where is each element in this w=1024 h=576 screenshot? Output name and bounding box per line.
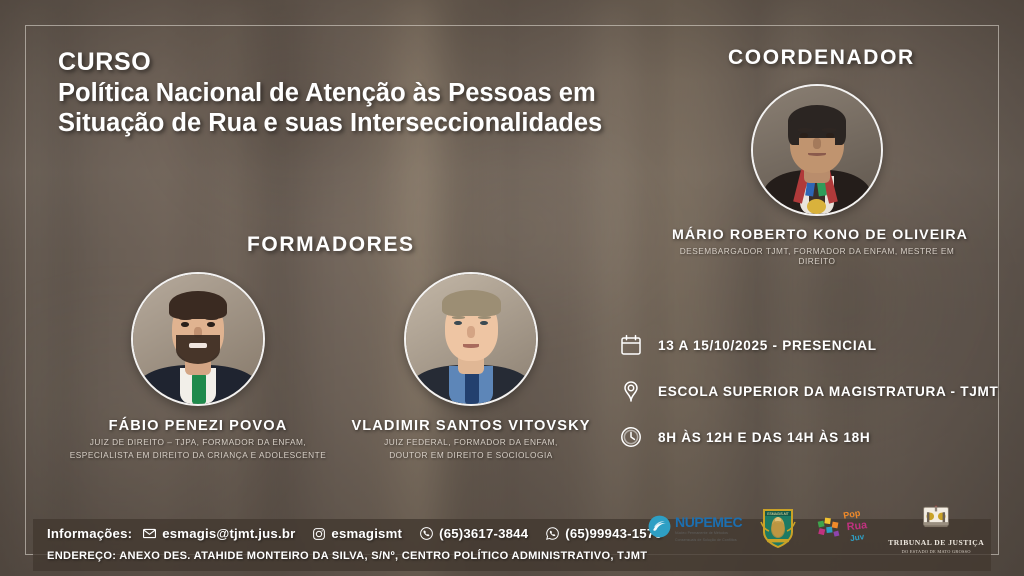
phone-icon [419,526,434,541]
nupemec-logo: NUPEMEC Núcleo Permanente de Métodos Con… [648,515,742,543]
clock-icon [616,422,646,452]
avatar [404,272,538,406]
svg-text:Juv: Juv [850,532,866,543]
event-details-list: 13 A 15/10/2025 - PRESENCIAL ESCOLA SUPE… [616,326,1016,464]
coordenador-heading: COORDENADOR [728,46,915,70]
footer-info-label: Informações: [47,526,132,541]
formador-role-line-2: ESPECIALISTA EM DIREITO DA CRIANÇA E ADO… [48,450,348,460]
svg-text:Pop: Pop [843,507,862,520]
tjmt-wordmark: TRIBUNAL DE JUSTIÇA [888,539,984,547]
footer-address-text: ENDEREÇO: ANEXO DES. ATAHIDE MONTEIRO DA… [47,550,647,562]
detail-row-location: ESCOLA SUPERIOR DA MAGISTRATURA - TJMT [616,372,1016,410]
formador-name: FÁBIO PENEZI POVOA [48,418,348,434]
location-pin-icon [616,376,646,406]
formador-1-photo [133,274,263,404]
avatar [131,272,265,406]
footer-whatsapp-item[interactable]: (65)99943-1576 [545,526,662,541]
formador-role-line-2: DOUTOR EM DIREITO E SOCIOLOGIA [321,450,621,460]
avatar [751,84,883,216]
course-title-line-1: Política Nacional de Atenção às Pessoas … [58,78,678,110]
formador-card: VLADIMIR SANTOS VITOVSKY JUIZ FEDERAL, F… [321,272,621,461]
nupemec-subtitle-line-2: Consensuais de Solução de Conflitos [675,538,742,543]
poprua-icon: Pop Rua Juv [814,507,872,552]
coordinator-photo [753,86,881,214]
formador-name: VLADIMIR SANTOS VITOVSKY [321,418,621,434]
instagram-icon [312,527,326,541]
formador-card: FÁBIO PENEZI POVOA JUIZ DE DIREITO – TJP… [48,272,348,461]
formador-role-line-1: JUIZ FEDERAL, FORMADOR DA ENFAM, [321,437,621,447]
partner-logos: NUPEMEC Núcleo Permanente de Métodos Con… [648,505,1018,553]
nupemec-wordmark: NUPEMEC [675,515,742,529]
detail-row-time: 8H ÀS 12H E DAS 14H ÀS 18H [616,418,1016,456]
tjmt-crest-icon [919,504,953,537]
esmagis-crest-icon: ESMAGIS-MT [758,506,798,553]
esmagis-crest-label: ESMAGIS-MT [767,512,788,516]
coordinator-card: MÁRIO ROBERTO KONO DE OLIVEIRA DESEMBARG… [672,84,962,267]
detail-time-text: 8H ÀS 12H E DAS 14H ÀS 18H [658,430,870,445]
nupemec-swirl-icon [648,515,671,543]
formadores-heading: FORMADORES [247,233,415,257]
nupemec-subtitle-line-1: Núcleo Permanente de Métodos [675,531,742,536]
tjmt-subtitle: DO ESTADO DE MATO GROSSO [902,549,971,554]
footer-contact-row: Informações: esmagis@tjmt.jus.br [47,526,679,541]
envelope-icon [142,526,157,541]
coordinator-role: DESEMBARGADOR TJMT, FORMADOR DA ENFAM, M… [672,246,962,267]
footer-email-text: esmagis@tjmt.jus.br [162,526,295,541]
calendar-icon [616,330,646,360]
detail-date-text: 13 A 15/10/2025 - PRESENCIAL [658,338,877,353]
course-title-line-2: Situação de Rua e suas Interseccionalida… [58,108,678,140]
detail-row-date: 13 A 15/10/2025 - PRESENCIAL [616,326,1016,364]
esmagis-crest-logo: ESMAGIS-MT [758,506,798,553]
coordinator-name: MÁRIO ROBERTO KONO DE OLIVEIRA [672,227,962,243]
whatsapp-icon [545,526,560,541]
footer-phone-text: (65)3617-3844 [439,526,528,541]
formador-role-line-1: JUIZ DE DIREITO – TJPA, FORMADOR DA ENFA… [48,437,348,447]
headline-block: CURSO Política Nacional de Atenção às Pe… [58,48,678,140]
footer-email-item[interactable]: esmagis@tjmt.jus.br [142,526,295,541]
course-kicker: CURSO [58,48,678,76]
event-poster: CURSO Política Nacional de Atenção às Pe… [0,0,1024,576]
footer-instagram-text: esmagismt [331,526,402,541]
footer-instagram-item[interactable]: esmagismt [312,526,402,541]
tjmt-logo: TRIBUNAL DE JUSTIÇA DO ESTADO DE MATO GR… [888,504,984,554]
svg-text:Rua: Rua [846,519,868,533]
detail-location-text: ESCOLA SUPERIOR DA MAGISTRATURA - TJMT [658,384,999,399]
footer-phone-item[interactable]: (65)3617-3844 [419,526,528,541]
formador-2-photo [406,274,536,404]
poprua-logo: Pop Rua Juv [814,507,872,552]
